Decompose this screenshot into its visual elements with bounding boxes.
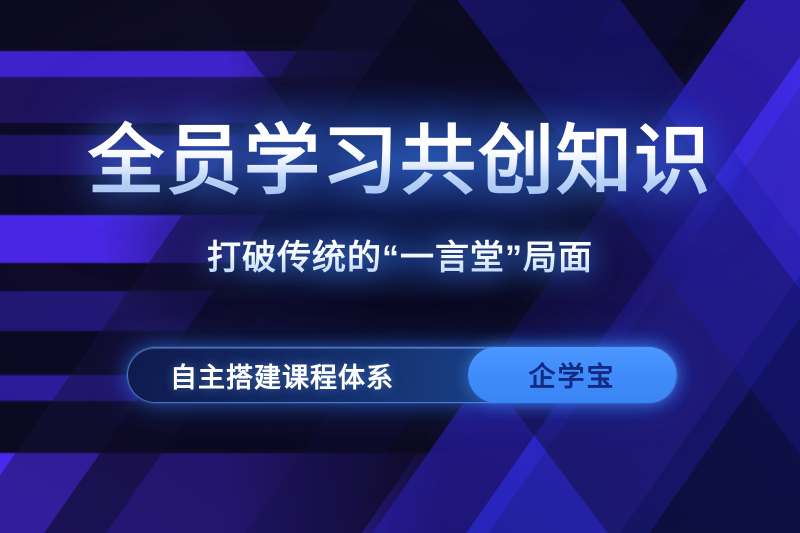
cta-button[interactable]: 企学宝 — [468, 347, 676, 403]
cta-button-label: 企学宝 — [529, 355, 616, 394]
cta-pill-label: 自主搭建课程体系 — [170, 356, 394, 395]
cta-pill-bar[interactable]: 自主搭建课程体系 企学宝 — [127, 347, 677, 403]
promo-banner: 全员学习共创知识 打破传统的“一言堂”局面 自主搭建课程体系 企学宝 — [0, 0, 800, 533]
banner-content: 全员学习共创知识 打破传统的“一言堂”局面 自主搭建课程体系 企学宝 — [0, 0, 800, 533]
banner-subheadline: 打破传统的“一言堂”局面 — [0, 236, 800, 280]
banner-headline: 全员学习共创知识 — [0, 119, 800, 205]
